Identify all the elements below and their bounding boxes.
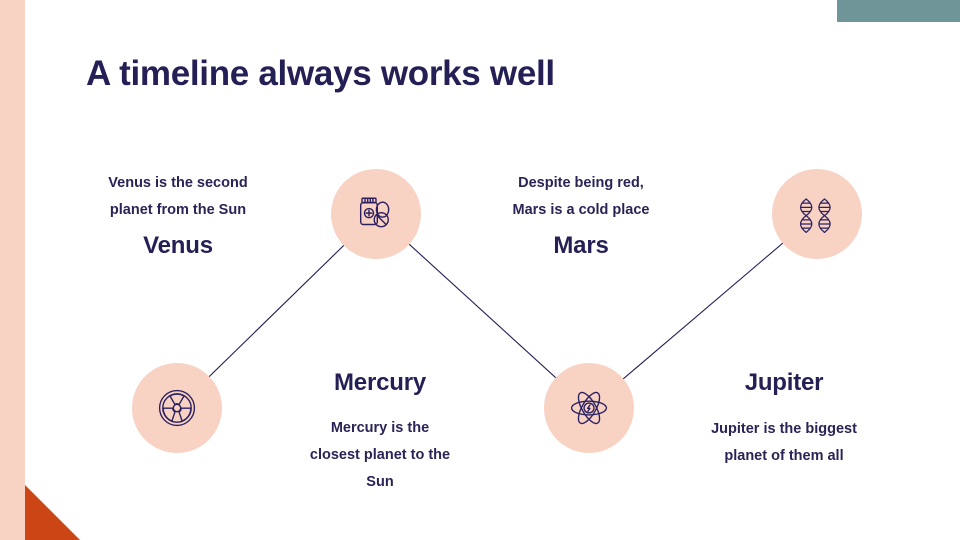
node-circle-mars[interactable]: [772, 169, 862, 259]
mars-heading: Mars: [463, 232, 699, 260]
page-title: A timeline always works well: [86, 54, 555, 94]
mercury-heading: Mercury: [262, 369, 498, 397]
top-right-teal-bar: [837, 0, 960, 22]
dna-icon: [797, 194, 837, 234]
mercury-description-line-2: closest planet to the: [262, 442, 498, 469]
mercury-description: Mercury is the closest planet to the Sun: [262, 415, 498, 495]
pill-bottle-icon: [355, 193, 397, 235]
node-circle-jupiter[interactable]: [544, 363, 634, 453]
mars-description-line-1: Despite being red,: [463, 170, 699, 197]
jupiter-heading: Jupiter: [666, 369, 902, 397]
left-accent-bar: [0, 0, 25, 540]
jupiter-description: Jupiter is the biggest planet of them al…: [666, 416, 902, 470]
venus-description: Venus is the second planet from the Sun: [60, 170, 296, 224]
mercury-description-line-3: Sun: [262, 469, 498, 496]
radiation-icon: [155, 386, 199, 430]
mercury-description-line-1: Mercury is the: [262, 415, 498, 442]
mars-description: Despite being red, Mars is a cold place: [463, 170, 699, 224]
jupiter-description-line-1: Jupiter is the biggest: [666, 416, 902, 443]
slide-canvas: A timeline always works well: [0, 0, 960, 540]
venus-description-line-2: planet from the Sun: [60, 197, 296, 224]
mars-description-line-2: Mars is a cold place: [463, 197, 699, 224]
jupiter-description-line-2: planet of them all: [666, 443, 902, 470]
node-circle-mercury[interactable]: [132, 363, 222, 453]
bottom-left-orange-triangle: [25, 485, 80, 540]
node-circle-venus[interactable]: [331, 169, 421, 259]
venus-description-line-1: Venus is the second: [60, 170, 296, 197]
atom-icon: [567, 386, 611, 430]
venus-heading: Venus: [60, 232, 296, 260]
